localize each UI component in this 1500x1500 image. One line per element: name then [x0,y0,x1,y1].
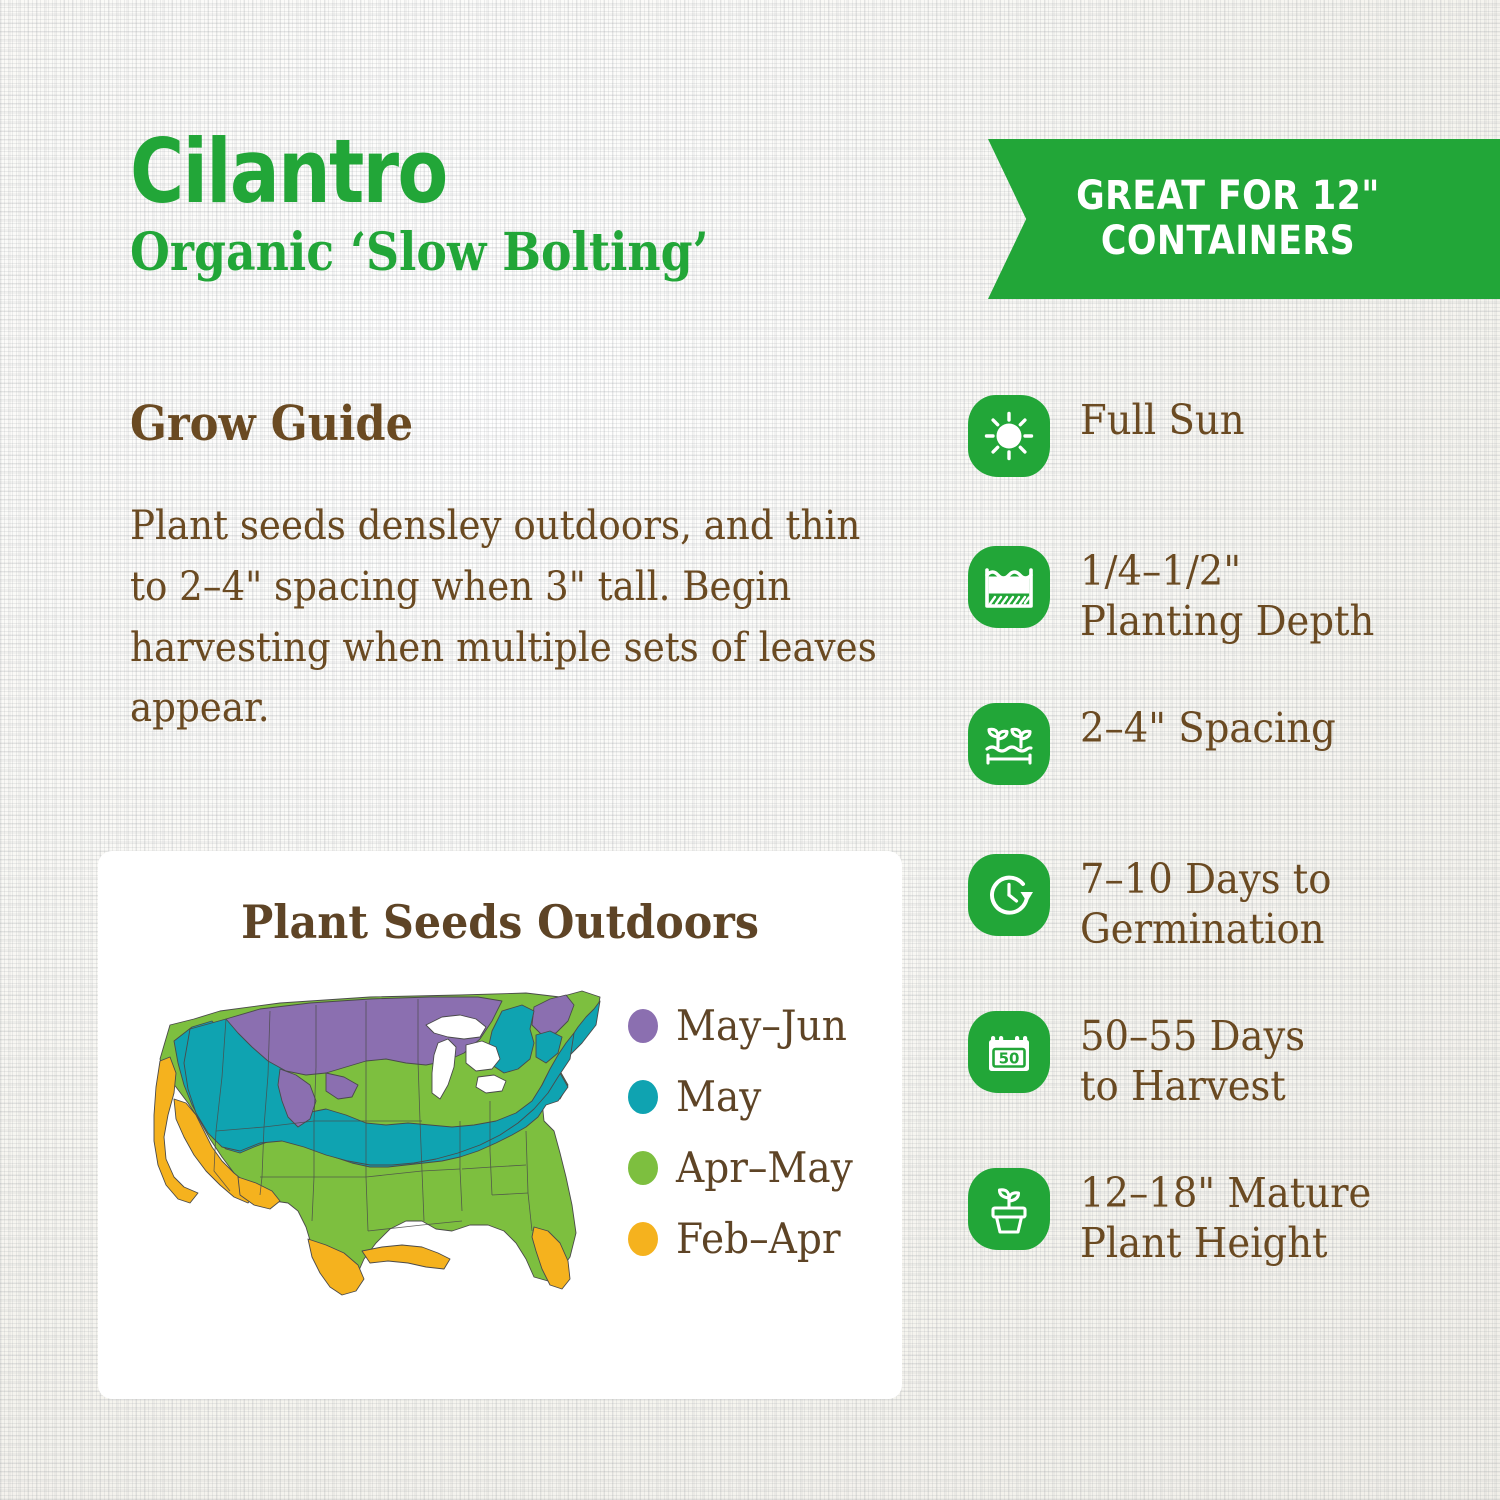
spec-row-planting-depth: 1/4–1/2" Planting Depth [968,544,1468,646]
usa-map-svg [130,981,610,1311]
spec-row-germination: 7–10 Days to Germination [968,852,1468,954]
legend-item: May [628,1072,866,1121]
spec-label: 2–4" Spacing [1080,701,1336,753]
calendar-icon: 50 [968,1011,1050,1093]
clock-icon [968,854,1050,936]
legend-item: Apr–May [628,1143,866,1192]
legend-item-label: Apr–May [676,1143,853,1192]
legend-item: May–Jun [628,1001,866,1050]
seed-packet-infographic: Cilantro Organic ‘Slow Bolting’ GREAT FO… [0,0,1500,1500]
container-callout-ribbon: GREAT FOR 12" CONTAINERS [988,139,1500,299]
page-title: Cilantro [130,132,682,213]
legend-item-label: Feb–Apr [676,1214,841,1263]
usa-planting-zone-map [130,981,610,1311]
legend-item-label: May–Jun [676,1001,847,1050]
planting-depth-icon [968,546,1050,628]
spec-label: 50–55 Days to Harvest [1080,1009,1305,1111]
spec-row-full-sun: Full Sun [968,393,1468,489]
ribbon-label: GREAT FOR 12" CONTAINERS [1054,174,1402,264]
legend-color-swatch [628,1009,658,1043]
legend-item: Feb–Apr [628,1214,866,1263]
title-block: Cilantro Organic ‘Slow Bolting’ [130,132,787,279]
sun-icon [968,395,1050,477]
map-legend: May–Jun May Apr–May Feb–Apr [628,1001,866,1263]
legend-color-swatch [628,1080,658,1114]
planting-map-card: Plant Seeds Outdoors [98,851,902,1399]
spacing-icon [968,703,1050,785]
spec-row-harvest: 50 50–55 Days to Harvest [968,1009,1468,1111]
spec-row-plant-height: 12–18" Mature Plant Height [968,1166,1468,1268]
grow-guide-heading: Grow Guide [130,396,841,452]
spec-label: 12–18" Mature Plant Height [1080,1166,1371,1268]
product-subtitle: Organic ‘Slow Bolting’ [130,227,709,279]
grow-guide-section: Grow Guide Plant seeds densley outdoors,… [130,396,920,739]
legend-item-label: May [676,1072,761,1121]
spec-label: Full Sun [1080,393,1245,445]
legend-color-swatch [628,1222,658,1256]
spec-row-spacing: 2–4" Spacing [968,701,1468,797]
calendar-badge-number: 50 [999,1049,1020,1067]
legend-color-swatch [628,1151,658,1185]
potted-plant-icon [968,1168,1050,1250]
spec-label: 7–10 Days to Germination [1080,852,1331,954]
growing-specs-list: Full Sun [968,393,1468,1268]
map-card-title: Plant Seeds Outdoors [126,895,874,949]
grow-guide-body: Plant seeds densley outdoors, and thin t… [130,496,893,739]
spec-label: 1/4–1/2" Planting Depth [1080,544,1374,646]
